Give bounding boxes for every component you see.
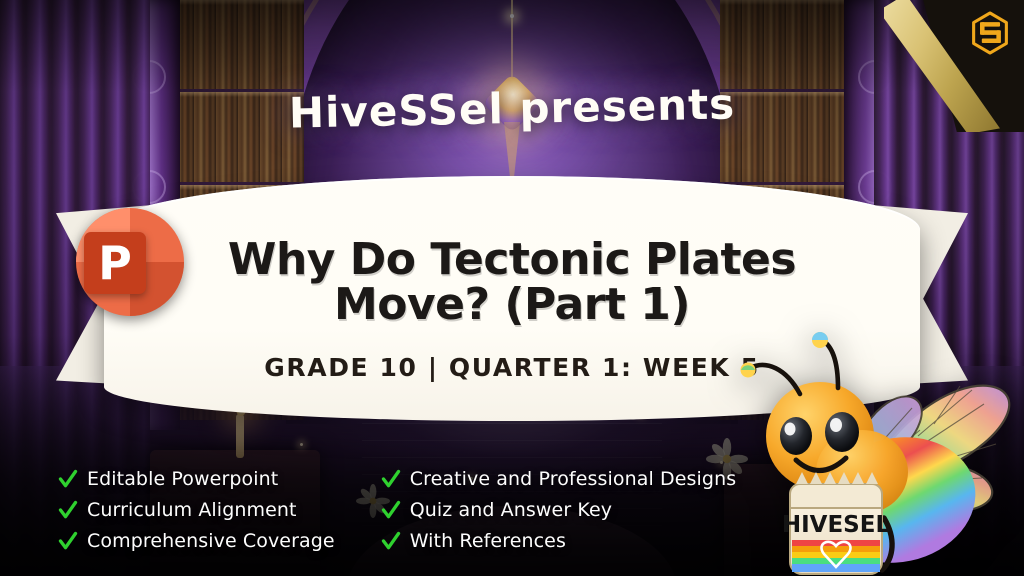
feature-label: Comprehensive Coverage: [87, 530, 335, 552]
feature-label: With References: [410, 530, 566, 552]
page-subtitle: GRADE 10 | QUARTER 1: WEEK 5: [264, 353, 759, 382]
feature-label: Quiz and Answer Key: [410, 499, 612, 521]
check-icon: [58, 531, 78, 551]
list-item: With References: [381, 530, 737, 552]
bee-eye-left: [780, 417, 812, 455]
check-icon: [58, 469, 78, 489]
jar-lid: [790, 484, 882, 508]
check-icon: [381, 469, 401, 489]
presentation-cover-slide: HiveSSel presents Why Do Tectonic Plates…: [0, 0, 1024, 576]
powerpoint-tile: P: [84, 232, 146, 294]
check-icon: [381, 531, 401, 551]
page-title-line-1: Why Do Tectonic Plates: [228, 237, 796, 282]
feature-label: Editable Powerpoint: [87, 468, 278, 490]
feature-label: Curriculum Alignment: [87, 499, 297, 521]
ceiling-sparkle-icon: [510, 14, 514, 18]
feature-column-right: Creative and Professional Designs Quiz a…: [381, 468, 737, 552]
bee-mascot: HIVESEL: [734, 332, 1020, 576]
feature-column-left: Editable Powerpoint Curriculum Alignment…: [58, 468, 335, 552]
check-icon: [58, 500, 78, 520]
feature-label: Creative and Professional Designs: [410, 468, 737, 490]
presents-headline: HiveSSel presents: [288, 79, 735, 137]
page-title-line-2: Move? (Part 1): [228, 282, 796, 327]
hexagon-s-logo-icon[interactable]: [970, 11, 1010, 55]
list-item: Curriculum Alignment: [58, 499, 335, 521]
list-item: Editable Powerpoint: [58, 468, 335, 490]
list-item: Creative and Professional Designs: [381, 468, 737, 490]
powerpoint-letter: P: [98, 240, 132, 286]
honey-jar-label: HIVESEL: [782, 512, 891, 538]
bee-mascot-illustration: HIVESEL: [734, 332, 1020, 576]
list-item: Quiz and Answer Key: [381, 499, 737, 521]
feature-list: Editable Powerpoint Curriculum Alignment…: [58, 468, 736, 552]
bee-eye-right: [825, 412, 859, 452]
list-item: Comprehensive Coverage: [58, 530, 335, 552]
check-icon: [381, 500, 401, 520]
page-title: Why Do Tectonic Plates Move? (Part 1): [228, 237, 796, 328]
honey-jar: HIVESEL: [782, 472, 891, 574]
powerpoint-icon: P: [76, 208, 184, 316]
